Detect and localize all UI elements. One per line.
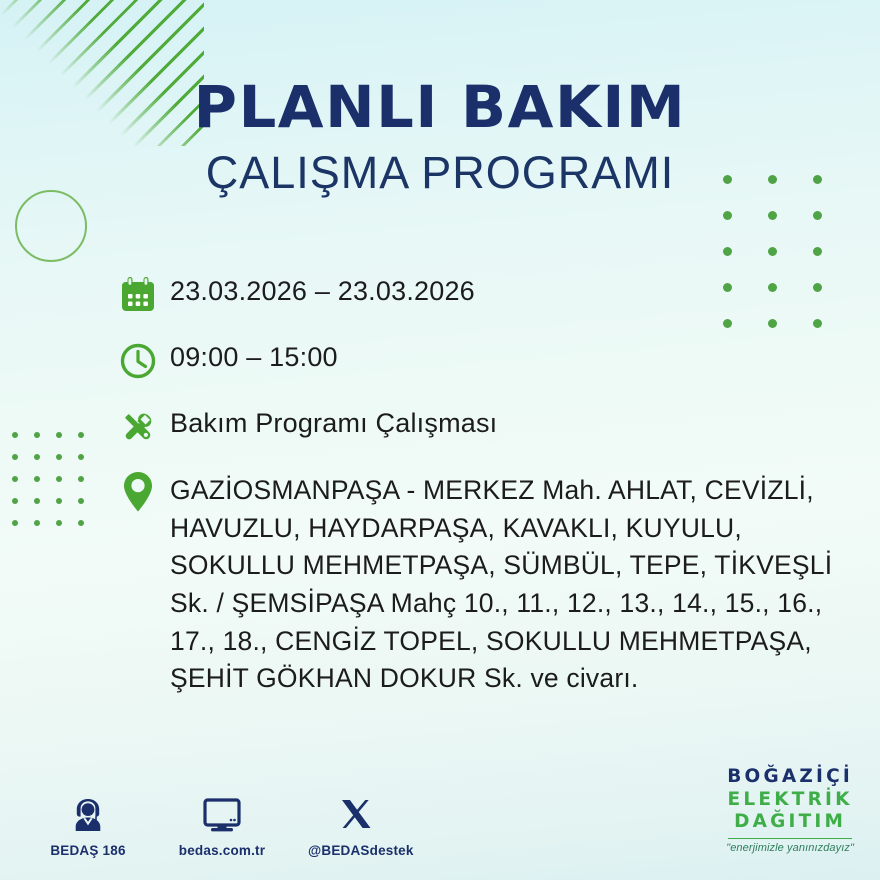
brand-line-bogazici: BOĞAZİÇİ [726, 768, 854, 787]
circle-outline-decoration [15, 190, 87, 262]
info-list: 23.03.2026 – 23.03.2026 09:00 – 15:00 [118, 272, 858, 698]
calendar-icon [118, 272, 170, 318]
page-title: PLANLI BAKIM [0, 78, 880, 136]
page-subtitle: ÇALIŞMA PROGRAMI [0, 150, 880, 195]
tools-icon [118, 404, 170, 450]
bedas-logo: BOĞAZİÇİ ELEKTRİK DAĞITIM "enerjimizle y… [726, 768, 854, 854]
info-row-location: GAZİOSMANPAŞA - MERKEZ Mah. AHLAT, CEVİZ… [118, 470, 858, 698]
contact-twitter[interactable]: @BEDASdestek [308, 790, 404, 858]
location-text: GAZİOSMANPAŞA - MERKEZ Mah. AHLAT, CEVİZ… [170, 470, 858, 698]
contact-website[interactable]: bedas.com.tr [174, 790, 270, 858]
info-row-time: 09:00 – 15:00 [118, 338, 858, 384]
contact-twitter-label: @BEDASdestek [308, 843, 404, 858]
monitor-icon [174, 790, 270, 836]
planned-maintenance-poster: PLANLI BAKIM ÇALIŞMA PROGRAMI [0, 0, 880, 880]
time-range-text: 09:00 – 15:00 [170, 338, 338, 376]
contact-phone-label: BEDAŞ 186 [40, 843, 136, 858]
brand-line-elektrik: ELEKTRİK [726, 791, 854, 810]
clock-icon [118, 338, 170, 384]
x-twitter-icon [308, 790, 404, 836]
poster-footer: BEDAŞ 186 bedas.com.tr [0, 764, 880, 864]
poster-header: PLANLI BAKIM ÇALIŞMA PROGRAMI [0, 78, 880, 195]
map-pin-icon [118, 470, 170, 514]
info-row-date: 23.03.2026 – 23.03.2026 [118, 272, 858, 318]
info-row-work-type: Bakım Programı Çalışması [118, 404, 858, 450]
contact-website-label: bedas.com.tr [174, 843, 270, 858]
brand-tagline: "enerjimizle yanınızdayız" [726, 843, 854, 854]
contact-list: BEDAŞ 186 bedas.com.tr [40, 790, 404, 858]
brand-line-dagitim: DAĞITIM [726, 813, 854, 832]
call-center-operator-icon [40, 790, 136, 836]
work-type-text: Bakım Programı Çalışması [170, 404, 497, 442]
contact-phone[interactable]: BEDAŞ 186 [40, 790, 136, 858]
dot-grid-decoration-left [12, 432, 100, 542]
brand-divider [728, 838, 852, 840]
date-range-text: 23.03.2026 – 23.03.2026 [170, 272, 475, 310]
